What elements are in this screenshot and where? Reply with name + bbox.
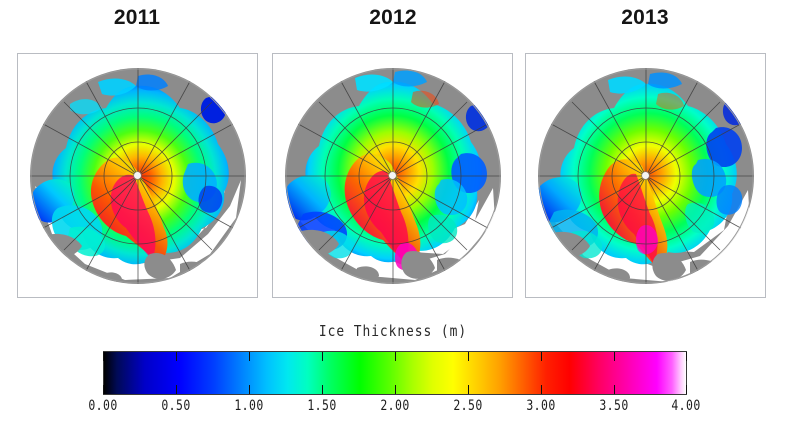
map-panel-2011 [17, 53, 258, 298]
panel-title-2012: 2012 [303, 6, 483, 30]
colorbar-tick-top [103, 352, 104, 361]
colorbar-label-3: 1.50 [293, 398, 350, 414]
colorbar-tick-top [468, 352, 469, 361]
colorbar-tick-bottom [176, 385, 177, 394]
colorbar-tick-top [322, 352, 323, 361]
colorbar-tick-bottom [468, 385, 469, 394]
panel-title-2011: 2011 [47, 6, 227, 30]
colorbar-label-6: 3.00 [512, 398, 569, 414]
colorbar-title: Ice Thickness (m) [55, 322, 731, 340]
polar-globe-2011 [30, 68, 246, 284]
arctic-ice-thickness-figure: 2011 2012 2013 [0, 0, 786, 442]
colorbar-tick-top [614, 352, 615, 361]
map-panel-2013 [525, 53, 766, 298]
colorbar-label-1: 0.50 [147, 398, 204, 414]
colorbar-label-5: 2.50 [439, 398, 496, 414]
colorbar-tick-top [541, 352, 542, 361]
colorbar-tick-bottom [103, 385, 104, 394]
colorbar-tick-top [395, 352, 396, 361]
colorbar-label-4: 2.00 [366, 398, 423, 414]
colorbar-tick-top [686, 352, 687, 361]
colorbar-tick-top [249, 352, 250, 361]
colorbar-tick-bottom [614, 385, 615, 394]
colorbar-label-2: 1.00 [220, 398, 277, 414]
north-pole-marker-2013 [642, 172, 649, 179]
north-pole-marker-2012 [389, 172, 396, 179]
colorbar-tick-bottom [541, 385, 542, 394]
colorbar-label-8: 4.00 [657, 398, 714, 414]
colorbar-label-0: 0.00 [74, 398, 131, 414]
colorbar-tick-bottom [395, 385, 396, 394]
panel-title-2013: 2013 [555, 6, 735, 30]
colorbar-tick-bottom [249, 385, 250, 394]
colorbar-label-7: 3.50 [585, 398, 642, 414]
colorbar-tick-bottom [686, 385, 687, 394]
polar-globe-2012 [285, 68, 501, 284]
colorbar-tick-bottom [322, 385, 323, 394]
north-pole-marker-2011 [134, 172, 141, 179]
colorbar-tick-top [176, 352, 177, 361]
colorbar-group [103, 351, 687, 395]
polar-globe-2013 [538, 68, 754, 284]
map-panel-2012 [272, 53, 513, 298]
